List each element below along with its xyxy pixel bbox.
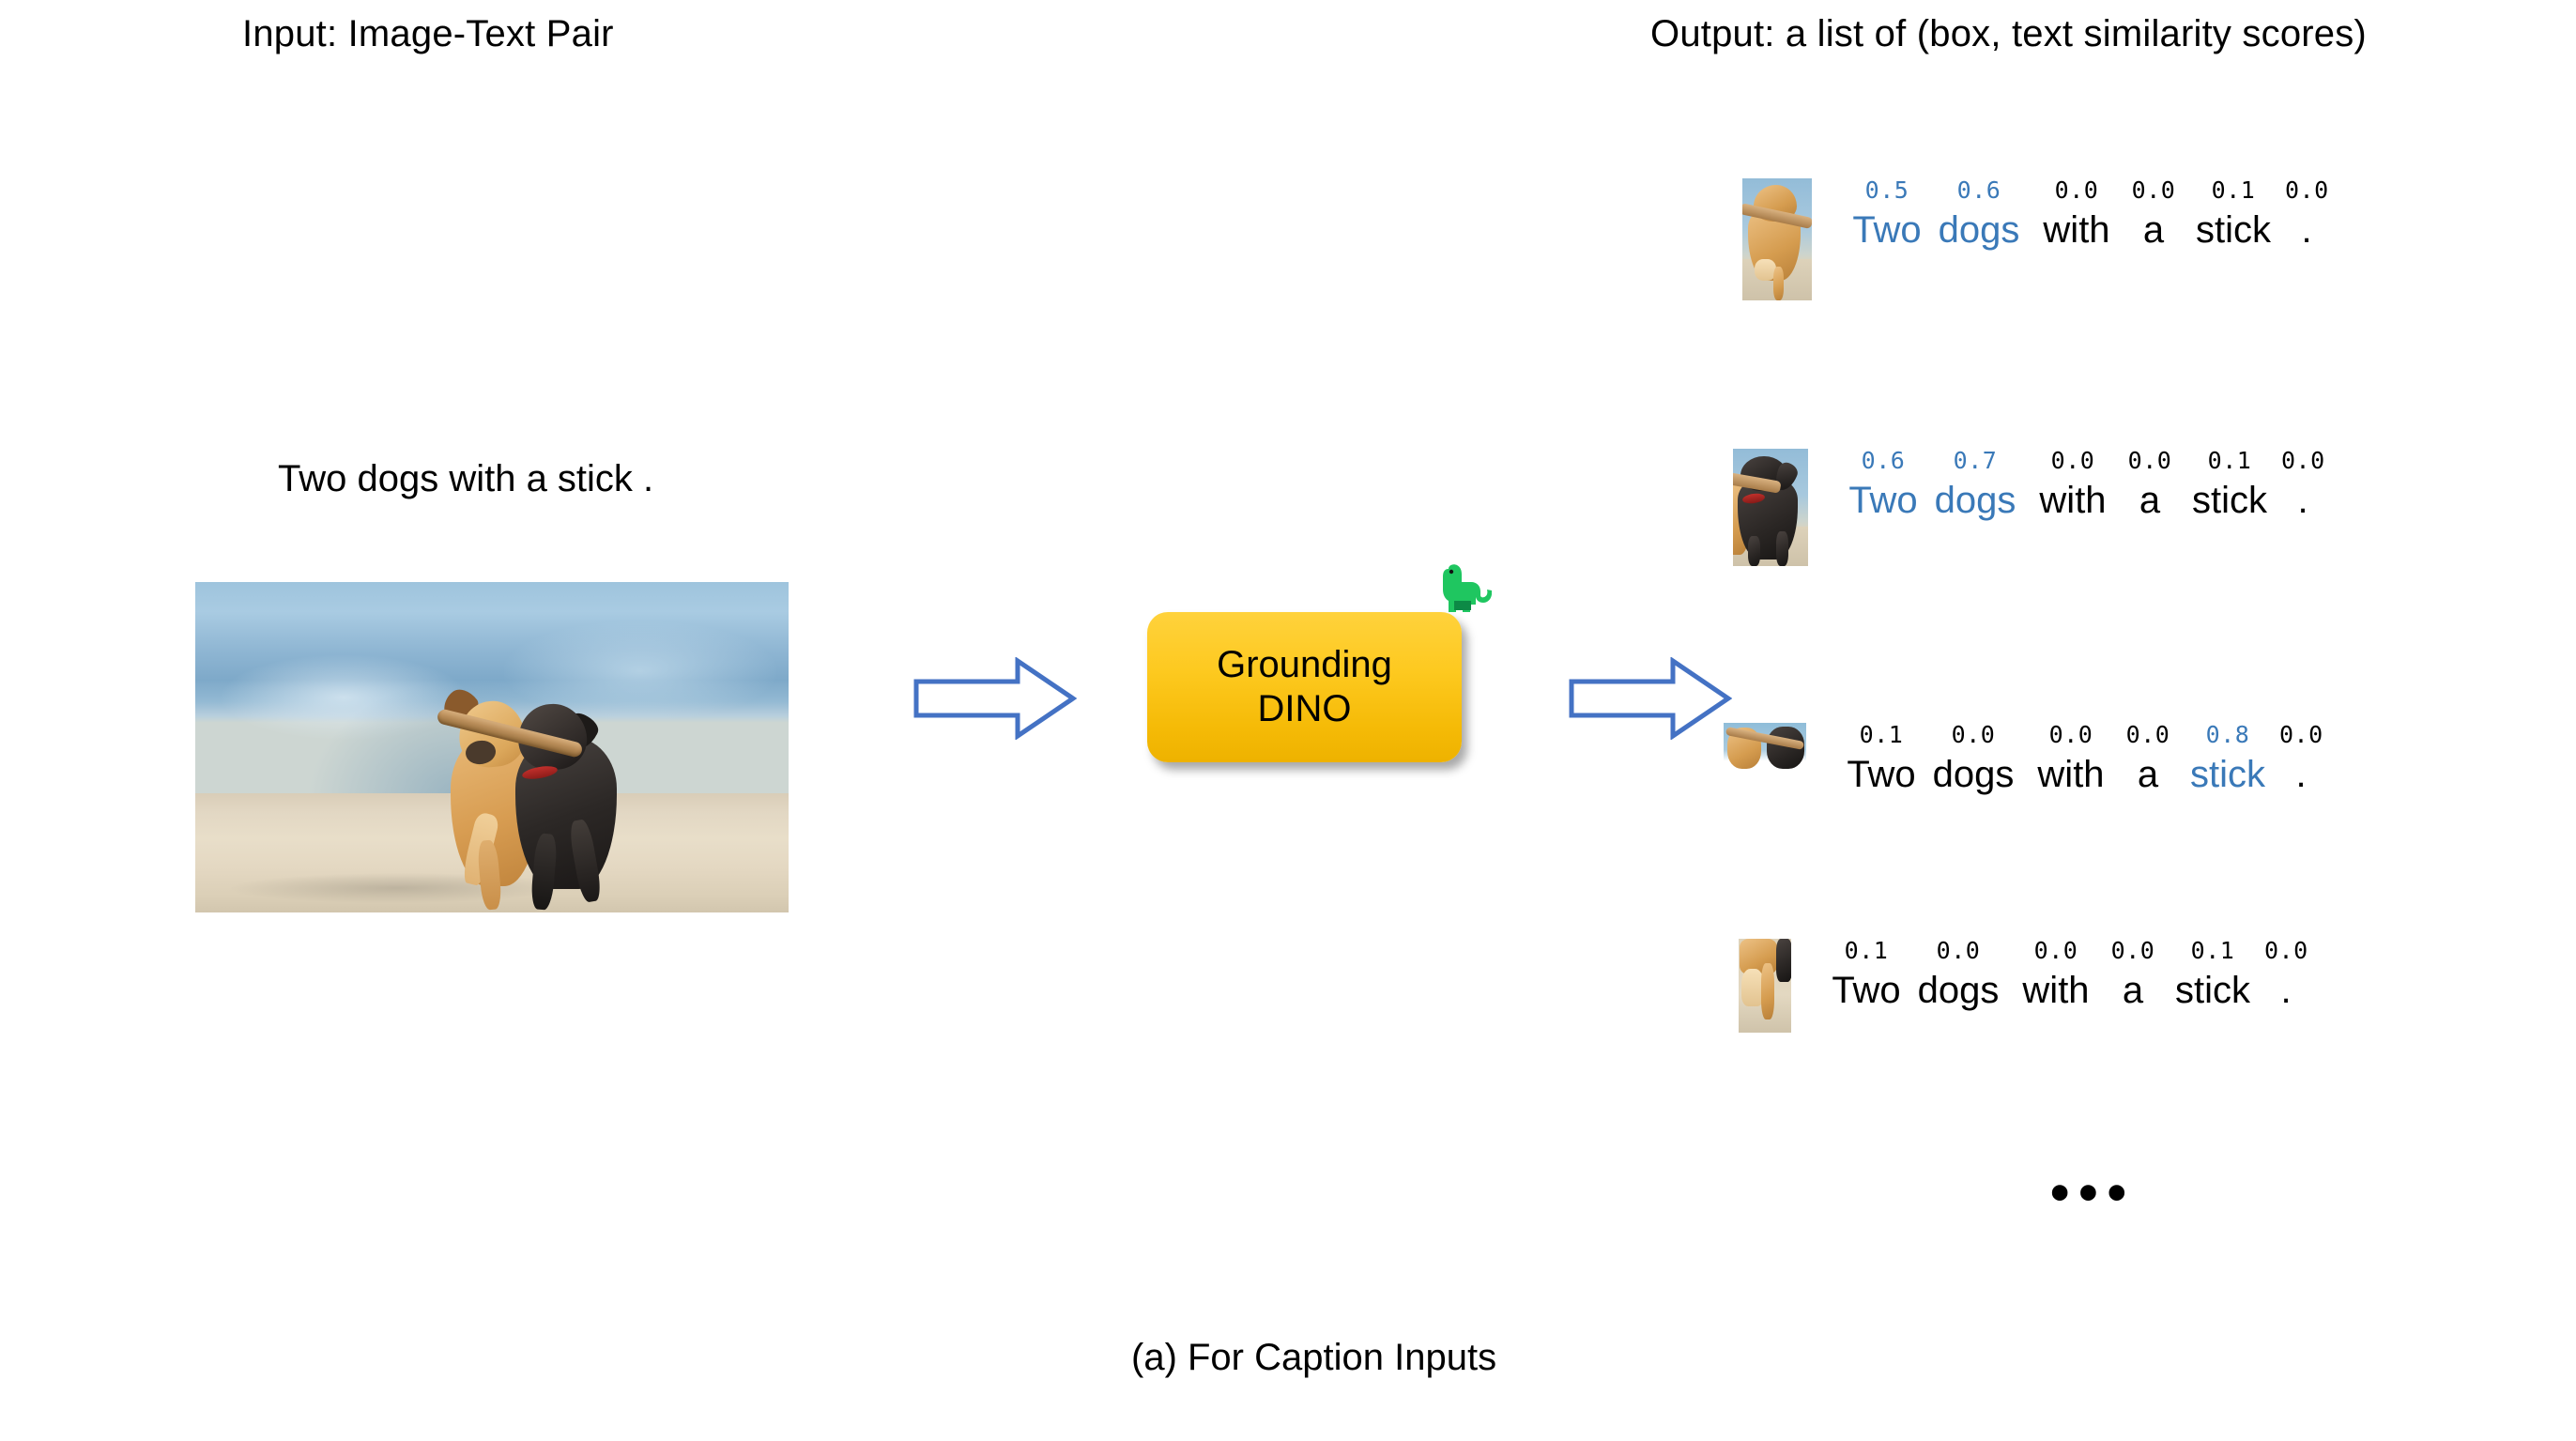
thumb-dog-leg (1761, 963, 1775, 1019)
caption-word: dogs (1926, 482, 2024, 519)
box-thumbnail-tan-dog (1742, 178, 1812, 300)
score-value: 0.0 (2028, 178, 2125, 202)
score-value: 0.0 (2281, 449, 2324, 472)
thumb-dog-leg (1773, 267, 1785, 300)
similarity-score-line: 0.1 0.0 0.0 0.0 0.8 0.0 (1838, 723, 2323, 746)
caption-word: with (2028, 211, 2125, 249)
score-value: 0.0 (2122, 449, 2178, 472)
output-text-block: 0.1 0.0 0.0 0.0 0.8 0.0 Two dogs with a … (1838, 723, 2323, 793)
caption-word: with (2007, 972, 2105, 1009)
output-row: 0.1 0.0 0.0 0.0 0.1 0.0 Two dogs with a … (1739, 939, 2308, 1033)
caption-word: with (2022, 756, 2120, 793)
grounding-dino-module[interactable]: Grounding DINO (1147, 612, 1462, 762)
score-value: 0.0 (2264, 939, 2308, 962)
caption-word: dogs (1930, 211, 2028, 249)
caption-word: stick (2178, 482, 2281, 519)
caption-word: Two (1838, 756, 1924, 793)
box-thumbnail-stick (1724, 723, 1806, 772)
caption-word: . (2281, 482, 2324, 519)
score-value: 0.0 (1924, 723, 2022, 746)
similarity-score-line: 0.6 0.7 0.0 0.0 0.1 0.0 (1840, 449, 2324, 472)
score-value: 0.1 (2182, 178, 2285, 202)
score-value: 0.0 (2120, 723, 2176, 746)
score-value: 0.1 (2178, 449, 2281, 472)
caption-word: a (2105, 972, 2161, 1009)
score-value: 0.0 (2105, 939, 2161, 962)
caption-word: dogs (1924, 756, 2022, 793)
score-value: 0.1 (2161, 939, 2264, 962)
score-value: 0.7 (1926, 449, 2024, 472)
caption-word: stick (2182, 211, 2285, 249)
more-results-ellipsis: ••• (2050, 1166, 2136, 1220)
output-row: 0.5 0.6 0.0 0.0 0.1 0.0 Two dogs with a … (1742, 178, 2328, 300)
right-arrow-icon (912, 657, 1077, 740)
caption-word: . (2264, 972, 2308, 1009)
score-value: 0.0 (2279, 723, 2323, 746)
flow-arrow-model-to-output (1568, 657, 1732, 740)
thumb-black-dog-edge (1776, 939, 1791, 982)
output-row: 0.1 0.0 0.0 0.0 0.8 0.0 Two dogs with a … (1724, 723, 2323, 793)
output-section-header: Output: a list of (box, text similarity … (1650, 13, 2367, 55)
output-text-block: 0.6 0.7 0.0 0.0 0.1 0.0 Two dogs with a … (1840, 449, 2324, 519)
caption-word: stick (2176, 756, 2279, 793)
score-value: 0.0 (2007, 939, 2105, 962)
score-value: 0.0 (2125, 178, 2182, 202)
score-value: 0.0 (1909, 939, 2007, 962)
caption-word: Two (1823, 972, 1909, 1009)
score-value: 0.0 (2285, 178, 2328, 202)
input-section-header: Input: Image-Text Pair (242, 13, 614, 55)
right-arrow-icon (1568, 657, 1732, 740)
output-text-block: 0.5 0.6 0.0 0.0 0.1 0.0 Two dogs with a … (1844, 178, 2328, 249)
score-value: 0.1 (1823, 939, 1909, 962)
score-value: 0.6 (1840, 449, 1926, 472)
thumb-dog-leg (1748, 536, 1760, 567)
similarity-score-line: 0.5 0.6 0.0 0.0 0.1 0.0 (1844, 178, 2328, 202)
score-value: 0.0 (2022, 723, 2120, 746)
caption-word: . (2285, 211, 2328, 249)
box-thumbnail-dog-legs (1739, 939, 1791, 1033)
caption-word: a (2125, 211, 2182, 249)
score-value: 0.6 (1930, 178, 2028, 202)
score-value: 0.1 (1838, 723, 1924, 746)
caption-word-line: Two dogs with a stick . (1844, 211, 2328, 249)
box-thumbnail-black-dog (1733, 449, 1808, 566)
caption-word: with (2024, 482, 2122, 519)
caption-word-line: Two dogs with a stick . (1838, 756, 2323, 793)
caption-word: a (2122, 482, 2178, 519)
score-value: 0.0 (2024, 449, 2122, 472)
similarity-score-line: 0.1 0.0 0.0 0.0 0.1 0.0 (1823, 939, 2308, 962)
module-label-line2: DINO (1258, 687, 1352, 731)
thumb-dog-leg (1776, 531, 1788, 567)
score-value: 0.5 (1844, 178, 1930, 202)
caption-word: a (2120, 756, 2176, 793)
input-caption-text: Two dogs with a stick . (278, 458, 653, 500)
caption-word-line: Two dogs with a stick . (1823, 972, 2308, 1009)
score-value: 0.8 (2176, 723, 2279, 746)
output-text-block: 0.1 0.0 0.0 0.0 0.1 0.0 Two dogs with a … (1823, 939, 2308, 1009)
flow-arrow-input-to-model (912, 657, 1077, 740)
caption-word: . (2279, 756, 2323, 793)
figure-caption: (a) For Caption Inputs (1131, 1337, 1496, 1379)
caption-word: stick (2161, 972, 2264, 1009)
output-row: 0.6 0.7 0.0 0.0 0.1 0.0 Two dogs with a … (1733, 449, 2324, 566)
dinosaur-icon (1435, 563, 1492, 616)
caption-word: dogs (1909, 972, 2007, 1009)
module-label-line1: Grounding (1217, 643, 1392, 687)
grounding-dino-box[interactable]: Grounding DINO (1147, 612, 1462, 762)
input-image (195, 582, 789, 912)
caption-word: Two (1840, 482, 1926, 519)
caption-word: Two (1844, 211, 1930, 249)
caption-word-line: Two dogs with a stick . (1840, 482, 2324, 519)
